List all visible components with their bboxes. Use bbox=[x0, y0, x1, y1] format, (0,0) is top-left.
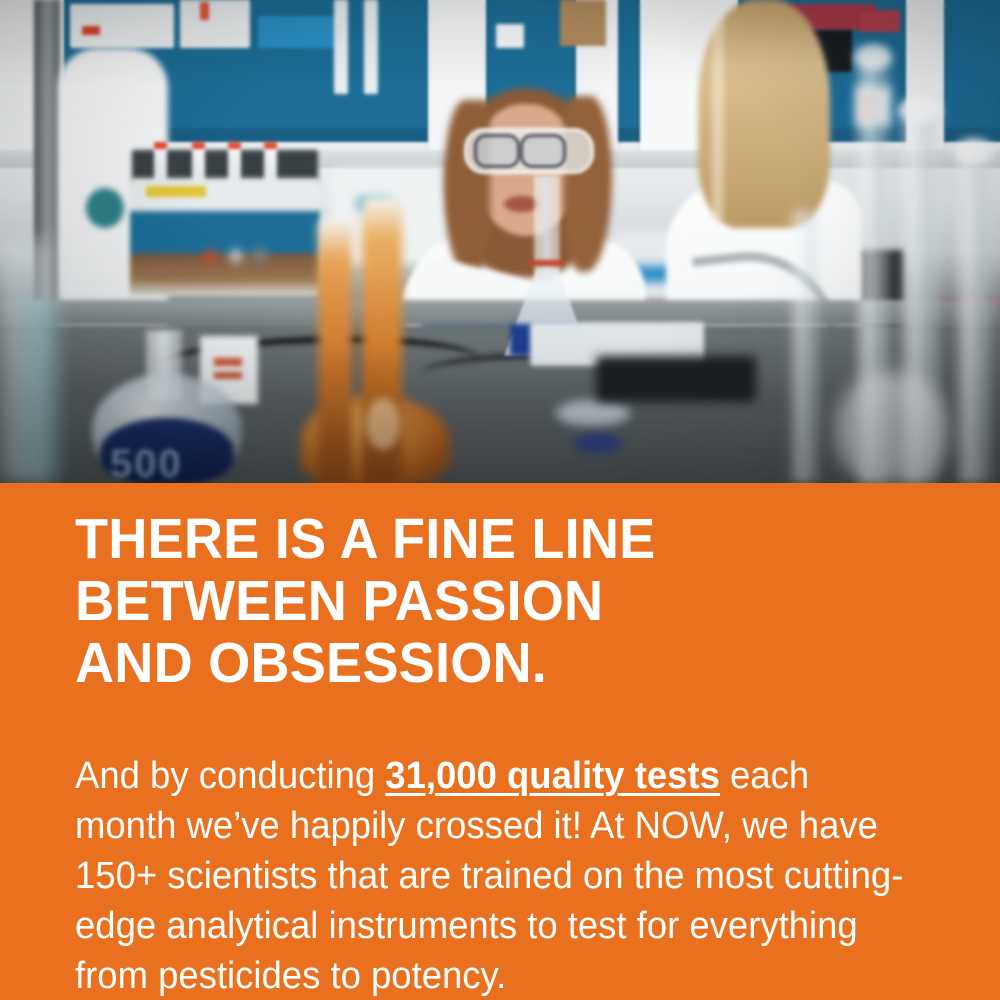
shelf-liquid-tank bbox=[258, 16, 336, 48]
shelf-box-white-2 bbox=[180, 0, 250, 48]
sample-vial-cap-3 bbox=[228, 142, 241, 149]
shelf-bottle-tall-b bbox=[364, 0, 378, 94]
body-text-before-emphasis: And by conducting bbox=[75, 755, 385, 797]
headline-line-3: AND OBSESSION. bbox=[75, 632, 892, 694]
laboratory-photo: 500 bbox=[0, 0, 1000, 483]
shelf-white-jug bbox=[496, 24, 524, 48]
orange-message-panel: THERE IS A FINE LINE BETWEEN PASSION AND… bbox=[0, 483, 1000, 1000]
shelf-bottle-tall-a bbox=[334, 0, 348, 94]
right-scientist-hair-highlight bbox=[712, 10, 724, 220]
black-instrument-box bbox=[596, 356, 756, 402]
instrument-yellow-label bbox=[146, 186, 206, 197]
headline-line-2: BETWEEN PASSION bbox=[75, 570, 892, 632]
eyeglasses-right-lens bbox=[520, 134, 566, 168]
glass-cylinder-4 bbox=[790, 210, 820, 483]
marketing-graphic: 500 THERE IS A FINE LINE BETWEEN PASSION… bbox=[0, 0, 1000, 1000]
glass-cylinder-3 bbox=[956, 150, 992, 483]
instrument-indicator-red bbox=[204, 250, 216, 262]
sample-vial-cap-4 bbox=[264, 142, 277, 149]
shelf-label-red-2 bbox=[200, 2, 209, 20]
left-scientist-glove bbox=[86, 188, 124, 228]
amber-glassware-column-1 bbox=[318, 218, 352, 483]
quality-tests-emphasis: 31,000 quality tests bbox=[385, 755, 720, 797]
sample-vial-cap-1 bbox=[154, 142, 167, 149]
glass-cylinder-2-top bbox=[898, 96, 942, 124]
shelf-label-red bbox=[82, 26, 100, 35]
glass-cylinder-1-top bbox=[854, 44, 892, 70]
amber-glassware-highlight bbox=[366, 398, 400, 450]
sample-vial-cap-2 bbox=[192, 142, 205, 149]
center-scientist-hair-left bbox=[444, 100, 490, 278]
headline-line-1: THERE IS A FINE LINE bbox=[75, 508, 892, 570]
right-glass-flask-bulb bbox=[836, 372, 948, 483]
petri-dish-blue bbox=[574, 434, 622, 452]
foreground-glass-blur-left-2 bbox=[20, 300, 60, 483]
eyeglasses-left-lens bbox=[474, 134, 520, 168]
shelf-box-brown bbox=[560, 0, 606, 46]
flask-500-volume-marking: 500 bbox=[110, 442, 183, 483]
flask-red-marking bbox=[530, 260, 564, 266]
lower-bench-edge bbox=[0, 300, 1000, 326]
foreground-flask-500ml: 500 bbox=[92, 330, 242, 483]
glass-cylinder-3-top bbox=[954, 138, 994, 164]
instrument-knob bbox=[230, 250, 242, 262]
instrument-knob-2 bbox=[252, 248, 267, 263]
petri-dish bbox=[556, 400, 630, 426]
page-title: THERE IS A FINE LINE BETWEEN PASSION AND… bbox=[75, 508, 892, 694]
body-paragraph: And by conducting 31,000 quality tests e… bbox=[75, 751, 910, 1000]
